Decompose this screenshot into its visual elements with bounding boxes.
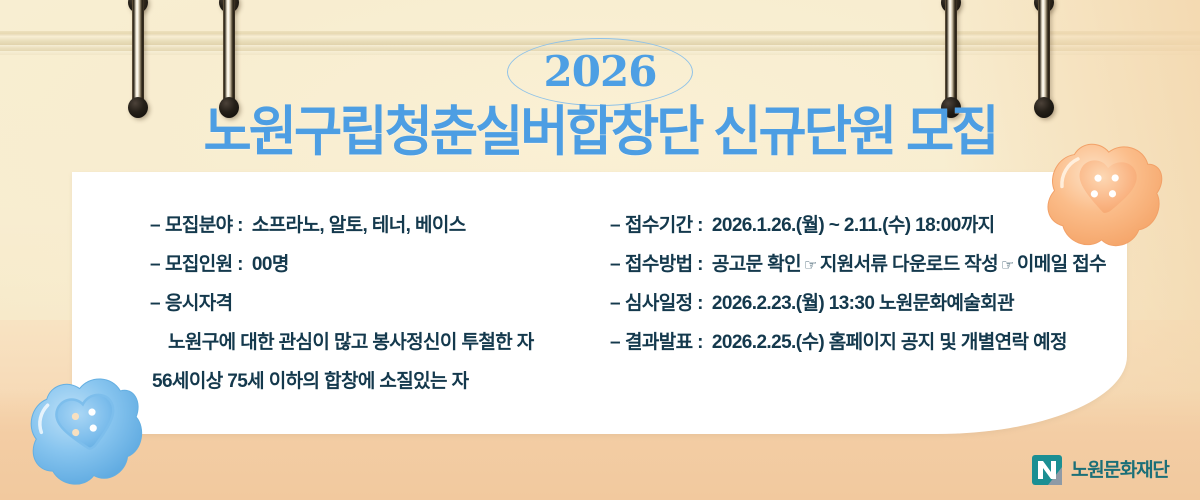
foundation-logo: 노원문화재단 bbox=[1032, 455, 1169, 485]
bullet-dash: – bbox=[150, 254, 160, 275]
detail-value: 00명 bbox=[252, 254, 289, 275]
detail-label: 접수기간 : bbox=[625, 215, 703, 236]
eligibility-line-2: 56세이상 75세 이하의 합창에 소질있는 자 bbox=[152, 372, 580, 391]
detail-value-step-2: 지원서류 다운로드 작성 bbox=[820, 254, 998, 275]
detail-value: 2026.2.23.(월) 13:30 노원문화예술회관 bbox=[712, 293, 1014, 314]
detail-row-result-announcement: –결과발표 :2026.2.25.(수) 홈페이지 공지 및 개별연락 예정 bbox=[610, 333, 1130, 352]
detail-label: 응시자격 bbox=[165, 293, 233, 314]
eligibility-line-1: 노원구에 대한 관심이 많고 봉사정신이 투철한 자 bbox=[168, 333, 580, 352]
heart-button-peach-graphic bbox=[1040, 136, 1169, 260]
detail-label: 심사일정 : bbox=[625, 293, 703, 314]
detail-row-application-method: –접수방법 :공고문 확인☞지원서류 다운로드 작성☞이메일 접수 bbox=[610, 255, 1130, 274]
binder-ring-icon-1 bbox=[128, 0, 148, 116]
foundation-name: 노원문화재단 bbox=[1071, 461, 1169, 480]
detail-row-recruit-count: –모집인원 :00명 bbox=[150, 255, 580, 274]
detail-value-step-3: 이메일 접수 bbox=[1017, 254, 1106, 275]
details-column-left: –모집분야 :소프라노, 알토, 테너, 베이스 –모집인원 :00명 –응시자… bbox=[150, 216, 580, 411]
detail-value: 2026.2.25.(수) 홈페이지 공지 및 개별연락 예정 bbox=[712, 332, 1067, 353]
heart-button-peach bbox=[1040, 136, 1169, 260]
heart-button-blue-graphic bbox=[21, 370, 153, 497]
bullet-dash: – bbox=[610, 332, 620, 353]
n-mark-icon bbox=[1032, 455, 1062, 485]
detail-label: 접수방법 : bbox=[625, 254, 703, 275]
detail-label: 모집분야 : bbox=[165, 215, 243, 236]
bullet-dash: – bbox=[150, 215, 160, 236]
detail-label: 결과발표 : bbox=[625, 332, 703, 353]
heart-button-blue bbox=[21, 370, 153, 497]
bullet-dash: – bbox=[610, 254, 620, 275]
detail-row-audition-schedule: –심사일정 :2026.2.23.(월) 13:30 노원문화예술회관 bbox=[610, 294, 1130, 313]
detail-label: 모집인원 : bbox=[165, 254, 243, 275]
detail-value-step-1: 공고문 확인 bbox=[712, 254, 801, 275]
detail-value: 소프라노, 알토, 테너, 베이스 bbox=[252, 215, 466, 236]
content-panel-inner: –모집분야 :소프라노, 알토, 테너, 베이스 –모집인원 :00명 –응시자… bbox=[72, 172, 1127, 434]
pointing-hand-icon-1: ☞ bbox=[804, 257, 817, 274]
bullet-dash: – bbox=[610, 293, 620, 314]
detail-value: 2026.1.26.(월) ~ 2.11.(수) 18:00까지 bbox=[712, 215, 995, 236]
binder-ring-icon-3 bbox=[941, 0, 961, 116]
binder-ring-icon-2 bbox=[219, 0, 239, 116]
content-panel: –모집분야 :소프라노, 알토, 테너, 베이스 –모집인원 :00명 –응시자… bbox=[72, 172, 1127, 434]
bullet-dash: – bbox=[610, 215, 620, 236]
year-text: 2026 bbox=[507, 38, 693, 106]
promotional-banner: 2026 노원구립청춘실버합창단 신규단원 모집 –모집분야 :소프라노, 알토… bbox=[0, 0, 1200, 500]
year-badge: 2026 bbox=[507, 38, 693, 106]
detail-row-eligibility: –응시자격 bbox=[150, 294, 580, 313]
details-columns: –모집분야 :소프라노, 알토, 테너, 베이스 –모집인원 :00명 –응시자… bbox=[72, 216, 1127, 434]
bullet-dash: – bbox=[150, 293, 160, 314]
detail-row-recruit-field: –모집분야 :소프라노, 알토, 테너, 베이스 bbox=[150, 216, 580, 235]
binder-ring-icon-4 bbox=[1034, 0, 1054, 116]
pointing-hand-icon-2: ☞ bbox=[1001, 257, 1014, 274]
page-title: 노원구립청춘실버합창단 신규단원 모집 bbox=[18, 104, 1182, 161]
